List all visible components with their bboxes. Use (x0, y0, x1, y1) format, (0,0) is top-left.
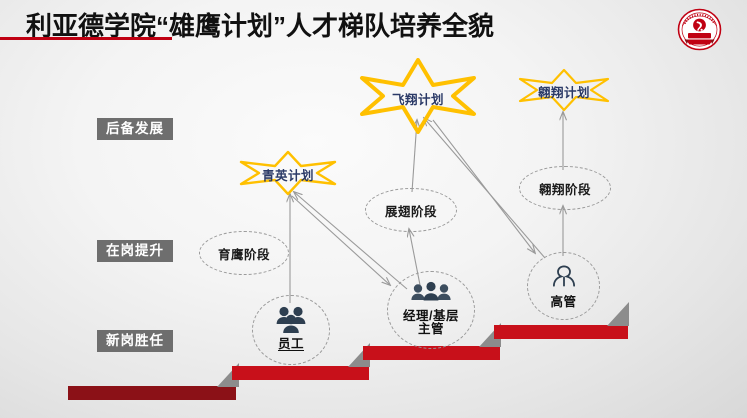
stair-riser-4 (607, 302, 629, 327)
band-label-text: 新岗胜任 (106, 333, 164, 348)
role-node-manager[interactable]: 经理/基层 主管 (387, 271, 475, 349)
company-seal-logo (676, 8, 723, 51)
stage-label: 育鹰阶段 (218, 244, 270, 263)
stair-step-4 (494, 325, 628, 339)
stair-step-1 (68, 386, 236, 400)
band-label-text: 后备发展 (106, 121, 164, 136)
band-label-text: 在岗提升 (106, 243, 164, 258)
title-underline (0, 37, 172, 40)
stair-tread (232, 366, 369, 380)
slide-canvas: 利亚德学院“雄鹰计划”人才梯队培养全貌 (0, 0, 747, 418)
three-people-icon (273, 305, 309, 335)
star-soaring-plan[interactable]: 飞翔计划 (357, 58, 479, 134)
stage-eagle-rearing[interactable]: 育鹰阶段 (199, 231, 289, 275)
role-label-line2: 主管 (403, 323, 459, 336)
star-label: 翱翔计划 (517, 82, 611, 101)
star-hover-plan[interactable]: 翱翔计划 (517, 68, 611, 112)
band-label-new-post-competence: 新岗胜任 (97, 330, 173, 352)
role-label: 员工 (278, 338, 304, 351)
single-person-outline-icon (551, 264, 577, 292)
stage-label: 翱翔阶段 (539, 179, 591, 198)
star-label: 青英计划 (238, 165, 338, 184)
star-elite-plan[interactable]: 青英计划 (238, 150, 338, 196)
role-label: 经理/基层 主管 (403, 310, 459, 336)
group-people-icon (410, 281, 452, 305)
stair-tread (68, 386, 236, 400)
role-label: 高管 (550, 296, 576, 309)
stage-soaring[interactable]: 翱翔阶段 (519, 166, 611, 210)
role-node-executive[interactable]: 高管 (527, 252, 600, 320)
star-label: 飞翔计划 (357, 89, 479, 108)
stair-tread (494, 325, 628, 339)
band-label-reserve-development: 后备发展 (97, 118, 173, 140)
stage-wing-spread[interactable]: 展翅阶段 (365, 188, 457, 232)
stage-label: 展翅阶段 (385, 201, 437, 220)
band-label-on-job-promotion: 在岗提升 (97, 240, 173, 262)
stair-step-2 (232, 366, 369, 380)
slide-header: 利亚德学院“雄鹰计划”人才梯队培养全貌 (0, 0, 747, 46)
role-node-staff[interactable]: 员工 (252, 295, 330, 365)
